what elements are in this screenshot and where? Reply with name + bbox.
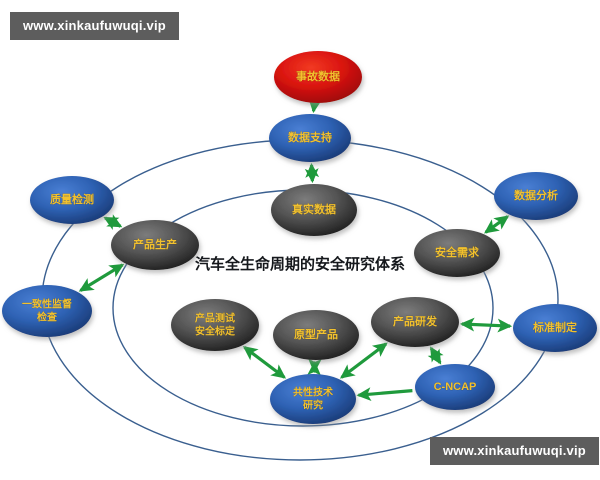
arrow-accident-to-support — [314, 106, 315, 111]
node-label-safety-requirement: 安全需求 — [435, 245, 480, 259]
watermark-bottom: www.xinkaufuwuqi.vip — [430, 437, 599, 465]
arrow-safety-analysis — [486, 217, 508, 233]
node-c-ncap[interactable]: C-NCAP — [415, 364, 495, 410]
node-label-product-rnd: 产品研发 — [393, 314, 438, 328]
node-label-real-data: 真实数据 — [292, 202, 336, 216]
arrow-realdata-to-support — [312, 165, 313, 181]
node-label-standard-setting: 标准制定 — [532, 320, 577, 334]
node-data-analysis[interactable]: 数据分析 — [494, 172, 578, 220]
node-group: 事故数据数据支持真实数据质量检测数据分析产品生产安全需求一致性监督检查标准制定产… — [2, 51, 597, 424]
node-data-support[interactable]: 数据支持 — [269, 114, 351, 162]
diagram-canvas: 事故数据数据支持真实数据质量检测数据分析产品生产安全需求一致性监督检查标准制定产… — [0, 0, 600, 480]
node-quality-inspection[interactable]: 质量检测 — [30, 176, 114, 224]
arrow-test-common — [245, 347, 285, 377]
node-product-test-calibration[interactable]: 产品测试安全标定 — [171, 299, 259, 351]
lifecycle-safety-research-diagram: 事故数据数据支持真实数据质量检测数据分析产品生产安全需求一致性监督检查标准制定产… — [0, 0, 600, 480]
node-real-data[interactable]: 真实数据 — [271, 184, 357, 236]
arrow-rnd-cncap — [431, 348, 440, 363]
node-prototype-product[interactable]: 原型产品 — [273, 310, 359, 360]
arrow-cncap-common — [359, 391, 413, 396]
node-label-quality-inspection: 质量检测 — [50, 192, 94, 206]
watermark-top: www.xinkaufuwuqi.vip — [10, 12, 179, 40]
node-standard-setting[interactable]: 标准制定 — [513, 304, 597, 352]
node-shape-common-technology-research[interactable] — [270, 374, 356, 424]
node-label-data-support: 数据支持 — [288, 130, 332, 144]
node-label-prototype-product: 原型产品 — [294, 327, 338, 341]
node-product-rnd[interactable]: 产品研发 — [371, 297, 459, 347]
center-title: 汽车全生命周期的安全研究体系 — [195, 255, 405, 273]
arrow-quality-manufacture — [105, 218, 120, 226]
node-label-data-analysis: 数据分析 — [514, 188, 558, 202]
node-shape-product-test-calibration[interactable] — [171, 299, 259, 351]
arrow-rnd-standard — [462, 324, 510, 326]
node-accident-data[interactable]: 事故数据 — [274, 51, 362, 103]
node-common-technology-research[interactable]: 共性技术研究 — [270, 374, 356, 424]
node-shape-consistency-supervision[interactable] — [2, 285, 92, 337]
node-product-manufacture[interactable]: 产品生产 — [111, 220, 199, 270]
node-label-product-manufacture: 产品生产 — [133, 237, 177, 251]
node-label-c-ncap: C-NCAP — [434, 381, 477, 393]
node-safety-requirement[interactable]: 安全需求 — [414, 229, 500, 277]
node-label-accident-data: 事故数据 — [296, 69, 340, 83]
node-consistency-supervision[interactable]: 一致性监督检查 — [2, 285, 92, 337]
